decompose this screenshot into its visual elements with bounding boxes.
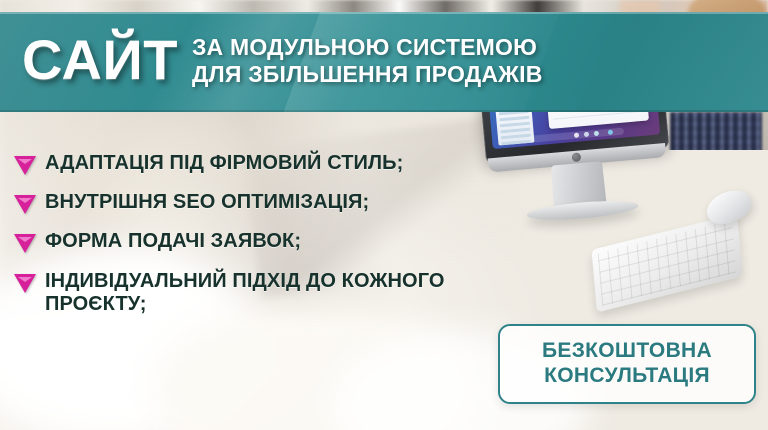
list-item: ІНДИВІДУАЛЬНИЙ ПІДХІД ДО КОЖНОГО ПРОЄКТУ… <box>14 270 484 316</box>
list-item: ВНУТРІШНЯ SEO ОПТИМІЗАЦІЯ; <box>14 191 484 214</box>
subtitle-line-1: ЗА МОДУЛЬНОЮ СИСТЕМОЮ <box>192 34 543 61</box>
list-item-label: АДАПТАЦІЯ ПІД ФІРМОВИЙ СТИЛЬ; <box>45 152 403 175</box>
headline-title: САЙТ <box>22 18 178 88</box>
list-item-label: ІНДИВІДУАЛЬНИЙ ПІДХІД ДО КОЖНОГО ПРОЄКТУ… <box>45 270 484 316</box>
cta-line-2: КОНСУЛЬТАЦІЯ <box>544 364 710 389</box>
headline-subtitle: ЗА МОДУЛЬНОЮ СИСТЕМОЮ ДЛЯ ЗБІЛЬШЕННЯ ПРО… <box>192 18 543 88</box>
subtitle-line-2: ДЛЯ ЗБІЛЬШЕННЯ ПРОДАЖІВ <box>192 61 543 88</box>
list-item: АДАПТАЦІЯ ПІД ФІРМОВИЙ СТИЛЬ; <box>14 152 484 175</box>
list-item-label: ФОРМА ПОДАЧІ ЗАЯВОК; <box>45 230 301 253</box>
banner-bottom-edge <box>0 110 768 112</box>
list-item: ФОРМА ПОДАЧІ ЗАЯВОК; <box>14 230 484 253</box>
list-item-label: ВНУТРІШНЯ SEO ОПТИМІЗАЦІЯ; <box>45 191 369 214</box>
screen-dock <box>528 128 624 143</box>
triangle-bullet-icon <box>14 234 36 253</box>
promo-banner-image: 17:15 Tue 8 Oct <box>0 0 768 430</box>
feature-list: АДАПТАЦІЯ ПІД ФІРМОВИЙ СТИЛЬ; ВНУТРІШНЯ … <box>14 152 484 316</box>
headline-group: САЙТ ЗА МОДУЛЬНОЮ СИСТЕМОЮ ДЛЯ ЗБІЛЬШЕНН… <box>22 18 543 88</box>
banner-top-edge <box>0 12 768 14</box>
headline-banner: САЙТ ЗА МОДУЛЬНОЮ СИСТЕМОЮ ДЛЯ ЗБІЛЬШЕНН… <box>0 12 768 112</box>
triangle-bullet-icon <box>14 274 36 293</box>
cta-line-1: БЕЗКОШТОВНА <box>542 339 712 364</box>
monitor-stand-foot <box>526 198 639 224</box>
person-plaid-shirt <box>670 112 762 150</box>
triangle-bullet-icon <box>14 156 36 175</box>
free-consultation-button[interactable]: БЕЗКОШТОВНА КОНСУЛЬТАЦІЯ <box>498 324 756 404</box>
triangle-bullet-icon <box>14 195 36 214</box>
